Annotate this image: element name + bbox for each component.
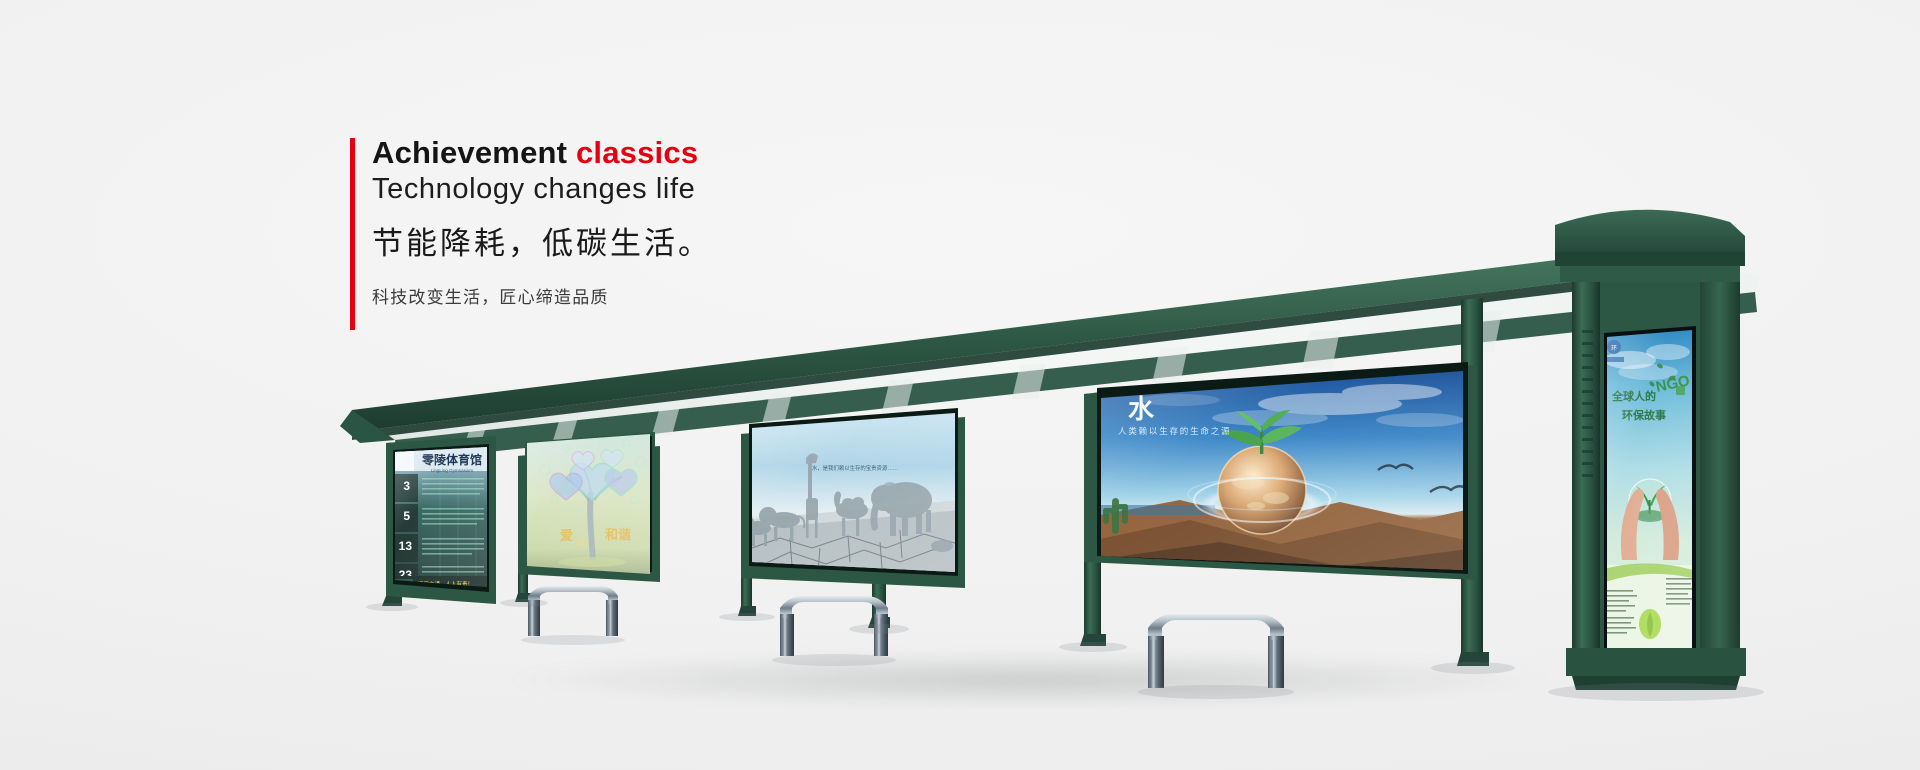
tower-crown <box>1555 210 1745 252</box>
tower-right-side <box>1700 282 1740 660</box>
shelter-tower: 全球人的 NGO 环保故事 <box>1555 210 1746 690</box>
panel-animals: 水，是我们赖以生存的宝贵资源…… <box>741 405 965 588</box>
panel-water: 水 人类赖以生存的生命之源 <box>1084 360 1477 582</box>
bus-shelter-illustration: 全球人的 NGO 环保故事 <box>0 0 1920 770</box>
panel-route-board: 零陵体育馆 LingLing Gymnasium 3 5 13 23 <box>386 436 496 604</box>
panel-love-harmony: 爱 与 和谐 <box>518 430 660 582</box>
ngo-lightbox-artwork: 全球人的 NGO 环保故事 <box>1600 325 1700 665</box>
tower-left-post <box>1572 282 1600 660</box>
tower-crown-band <box>1555 252 1745 266</box>
banner-stage: Achievement classics Technology changes … <box>0 0 1920 770</box>
tower-cornice <box>1560 266 1740 282</box>
tower-base-cap <box>1566 648 1746 676</box>
shelter-bench <box>521 586 625 645</box>
shelter-bench <box>1138 614 1294 699</box>
shelter-benches <box>521 586 1294 699</box>
post-shadows <box>366 599 1764 701</box>
